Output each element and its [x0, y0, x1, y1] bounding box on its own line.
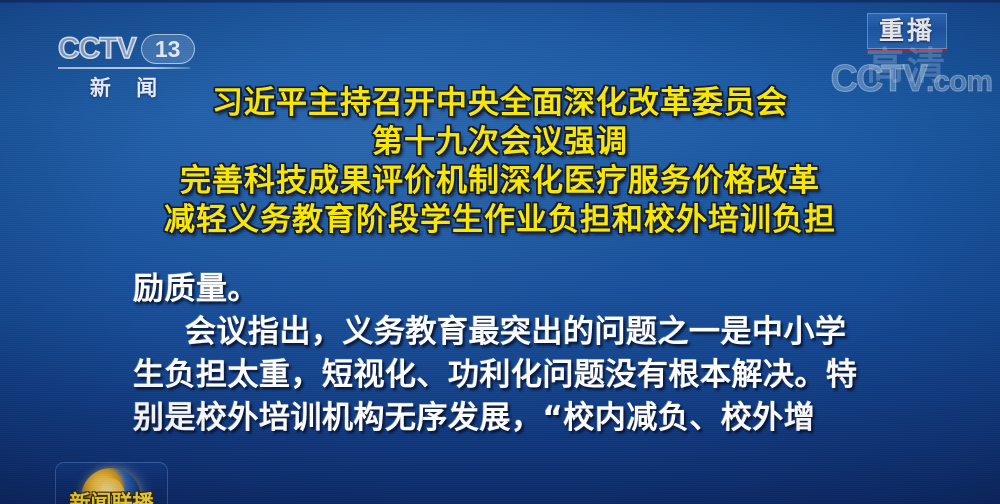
cctv-wordmark: CCTV	[58, 34, 136, 64]
subtitle-body-block: 励质量。 会议指出，义务教育最突出的问题之一是中小学 生负担太重，短视化、功利化…	[133, 268, 893, 440]
headline-line-3: 完善科技成果评价机制深化医疗服务价格改革	[0, 162, 1000, 201]
rebroadcast-label: 重播	[879, 18, 935, 44]
program-logo: 新闻联播	[55, 462, 168, 504]
headline-line-2: 第十九次会议强调	[0, 123, 1000, 162]
subtitle-line-2: 会议指出，义务教育最突出的问题之一是中小学	[133, 311, 893, 354]
frame-top-edge	[0, 0, 1000, 3]
headline-line-4: 减轻义务教育阶段学生作业负担和校外培训负担	[0, 201, 1000, 240]
channel-number: 13	[155, 38, 181, 61]
headline-block: 习近平主持召开中央全面深化改革委员会 第十九次会议强调 完善科技成果评价机制深化…	[0, 84, 1000, 240]
channel-logo-row: CCTV 13	[58, 33, 208, 65]
broadcast-frame: CCTV 13 新 闻 重播 高清 CCTV.com 习近平主持召开中央全面深化…	[0, 0, 1000, 504]
headline-line-1: 习近平主持召开中央全面深化改革委员会	[0, 84, 1000, 123]
channel-number-pill: 13	[141, 34, 195, 64]
subtitle-line-3: 生负担太重，短视化、功利化问题没有根本解决。特	[133, 354, 893, 397]
subtitle-line-1: 励质量。	[133, 268, 893, 311]
subtitle-line-4: 别是校外培训机构无序发展，“校内减负、校外增	[133, 397, 893, 440]
program-name-label: 新闻联播	[55, 492, 168, 504]
channel-logo-underbar	[58, 67, 190, 69]
